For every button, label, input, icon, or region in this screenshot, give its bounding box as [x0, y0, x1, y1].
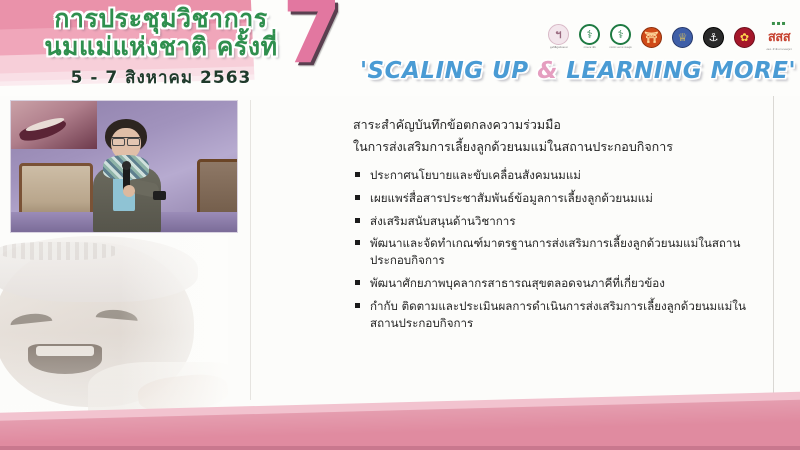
- thaihealth-sss-logo: ▪▪▪ สสส สสส. สำนักงานกองทุนฯ: [762, 22, 796, 52]
- royal-crest-logo: ♕: [669, 22, 696, 52]
- ministry-public-health-logo: ⚕ กรมอนามัย: [576, 22, 603, 52]
- conference-title-line1: การประชุมวิชาการ: [16, 2, 306, 31]
- conference-theme: 'SCALING UP & LEARNING MORE': [360, 58, 796, 84]
- list-item: พัฒนาศักยภาพบุคลากรสาธารณสุขตลอดจนภาคีที…: [353, 275, 755, 292]
- content-right-rule: [773, 96, 774, 388]
- royal-patronage-caption: มูลนิธิศูนย์นมแม่: [550, 46, 568, 50]
- partner-logo-strip: ฯ มูลนิธิศูนย์นมแม่ ⚕ กรมอนามัย ⚕ กระทรว…: [545, 22, 796, 52]
- royal-patronage-logo: ฯ มูลนิธิศูนย์นมแม่: [545, 22, 572, 52]
- list-item: พัฒนาและจัดทำเกณฑ์มาตรฐานการส่งเสริมการเ…: [353, 235, 755, 269]
- ministry-public-health-icon: ⚕: [579, 24, 600, 45]
- slide-footer-banner: [0, 374, 800, 450]
- speaker-hand: [123, 185, 135, 197]
- department-health-icon: ⚕: [610, 24, 631, 45]
- content-bullet-list: ประกาศนโยบายและขับเคลื่อนสังคมนมแม่ เผยแ…: [353, 167, 755, 331]
- university-emblem-logo: ⛩: [638, 22, 665, 52]
- list-item: เผยแพร่สื่อสารประชาสัมพันธ์ข้อมูลการเลี้…: [353, 190, 755, 207]
- ministry-public-health-caption: กรมอนามัย: [583, 46, 595, 50]
- footer-baseline: [0, 446, 800, 450]
- speaker-video-thumbnail[interactable]: [10, 100, 238, 233]
- slide-content-pane: สาระสำคัญบันทึกข้อตกลงความร่วมมือ ในการส…: [250, 100, 774, 400]
- backdrop-mouth-graphic: [11, 101, 97, 149]
- theme-suffix: LEARNING MORE': [558, 58, 796, 84]
- list-item: กำกับ ติดตามและประเมินผลการดำเนินการส่งเ…: [353, 298, 755, 332]
- edition-number: 7: [282, 0, 342, 76]
- black-seal-icon: ⚓: [703, 27, 724, 48]
- theme-prefix: 'SCALING UP: [360, 58, 537, 84]
- red-seal-icon: ✿: [734, 27, 755, 48]
- conference-date: 5 - 7 สิงหาคม 2563: [16, 64, 306, 91]
- slide-header-banner: การประชุมวิชาการ นมแม่แห่งชาติ ครั้งที่ …: [0, 0, 800, 96]
- list-item: ส่งเสริมสนับสนุนด้านวิชาการ: [353, 213, 755, 230]
- content-heading: สาระสำคัญบันทึกข้อตกลงความร่วมมือ ในการส…: [353, 114, 755, 157]
- content-heading-line1: สาระสำคัญบันทึกข้อตกลงความร่วมมือ: [353, 114, 755, 136]
- red-seal-logo: ✿: [731, 22, 758, 52]
- department-health-caption: กระทรวงสาธารณสุข: [609, 46, 631, 50]
- conference-title-block: การประชุมวิชาการ นมแม่แห่งชาติ ครั้งที่ …: [16, 2, 306, 91]
- conference-title-line2: นมแม่แห่งชาติ ครั้งที่: [16, 31, 306, 59]
- thaihealth-wordmark: สสส: [768, 26, 790, 47]
- presenter-remote: [153, 191, 166, 200]
- royal-crest-icon: ♕: [672, 27, 693, 48]
- speaker-figure: [87, 119, 167, 233]
- black-seal-logo: ⚓: [700, 22, 727, 52]
- content-heading-line2: ในการส่งเสริมการเลี้ยงลูกด้วยนมแม่ในสถาน…: [353, 136, 755, 158]
- speaker-glasses: [112, 137, 140, 143]
- theme-ampersand: &: [537, 58, 558, 84]
- list-item: ประกาศนโยบายและขับเคลื่อนสังคมนมแม่: [353, 167, 755, 184]
- royal-patronage-icon: ฯ: [548, 24, 569, 45]
- university-emblem-icon: ⛩: [641, 27, 662, 48]
- department-health-logo: ⚕ กระทรวงสาธารณสุข: [607, 22, 634, 52]
- presentation-slide: การประชุมวิชาการ นมแม่แห่งชาติ ครั้งที่ …: [0, 0, 800, 450]
- thaihealth-caption: สสส. สำนักงานกองทุนฯ: [766, 49, 791, 53]
